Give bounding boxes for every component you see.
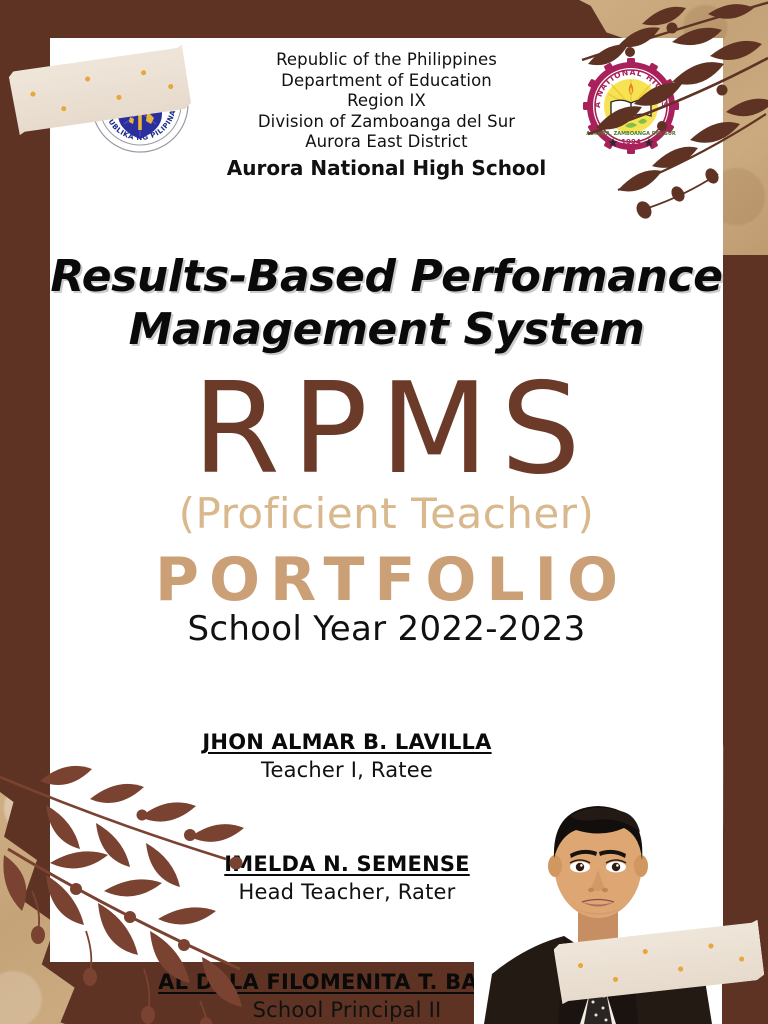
school-seal-icon: AURORA NATIONAL HIGH SCHOOL bbox=[581, 56, 681, 156]
system-title: Results-Based Performance Management Sys… bbox=[50, 250, 723, 356]
signatory-name: JHON ALMAR B. LAVILLA bbox=[202, 728, 491, 756]
cover-card: KAGAWARAN NG EDUKASYON REPUBLIKA NG PILI… bbox=[50, 38, 723, 962]
career-stage-label: (Proficient Teacher) bbox=[50, 490, 723, 538]
school-year-label: School Year 2022-2023 bbox=[50, 608, 723, 650]
signatory-ratee: JHON ALMAR B. LAVILLA Teacher I, Ratee bbox=[112, 728, 582, 784]
system-title-line-1: Results-Based Performance bbox=[50, 250, 723, 303]
portfolio-cover-page: KAGAWARAN NG EDUKASYON REPUBLIKA NG PILI… bbox=[0, 0, 768, 1024]
svg-text:AURORA, ZAMBOANGA DEL SUR: AURORA, ZAMBOANGA DEL SUR bbox=[586, 131, 676, 137]
page-edge-sliver bbox=[712, 742, 724, 830]
rpms-acronym: RPMS bbox=[50, 366, 723, 492]
signatory-role: Teacher I, Ratee bbox=[112, 756, 582, 784]
school-seal-year: 1994 bbox=[621, 138, 641, 146]
signatory-name: IMELDA N. SEMENSE bbox=[224, 850, 469, 878]
system-title-line-2: Management System bbox=[50, 303, 723, 356]
portfolio-label: PORTFOLIO bbox=[50, 546, 723, 614]
school-name: Aurora National High School bbox=[50, 155, 723, 181]
